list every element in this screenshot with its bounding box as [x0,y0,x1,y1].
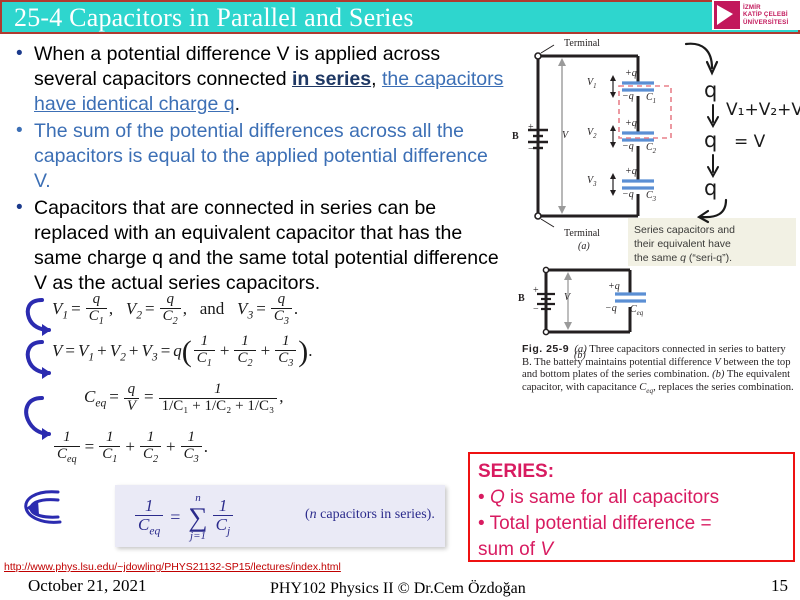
eq2-v2: V [110,341,120,360]
cap3-plus-charge: +q [625,166,637,177]
equation-reciprocal-sum: 1Ceq=1C1+1C2+1C3. [52,437,208,456]
eq4-frac-1: 1C1 [99,430,120,465]
callout-series-same-q: Series capacitors and their equivalent h… [628,218,796,266]
handwritten-arrow-top [684,40,724,80]
eq4-frac-ceq: 1Ceq [54,430,80,465]
ceq-name: Ceq [630,304,643,317]
bullet-1-emphasis: in series [292,68,371,90]
sigma-lower-limit: j=1 [188,531,207,542]
sum-one-right: 1 [213,497,234,515]
ceq-c-sub: eq [637,310,643,317]
callout-line3-post: (“seri-q”). [686,252,732,264]
bullet-list: When a potential difference V is applied… [8,42,508,298]
eq4-ceq: C [57,446,67,462]
bullet-item-1: When a potential difference V is applied… [8,42,508,117]
eq2-period: . [308,341,312,360]
eq3-frac-main: 11/C₁ + 1/C₂ + 1/C₃ [159,382,278,415]
handwritten-arrow-2 [704,154,722,178]
eq2-den-3: C3 [275,350,296,370]
equation-ceq: Ceq=qV=11/C₁ + 1/C₂ + 1/C₃, [84,387,283,406]
summation-formula: 1 Ceq = n ∑ j=1 1 Cj [133,493,235,542]
eq2-num-1: 1 [194,334,215,350]
eq1-equals-3: = [253,299,269,318]
eq3-denom: 1/C₁ + 1/C₂ + 1/C₃ [159,398,278,415]
eq3-ceq-sub: eq [95,396,106,409]
eq1-comma-2: , [183,299,187,318]
eq2-c2-sub: 2 [248,358,253,369]
callout-line-1: Series capacitors and [634,223,790,237]
cap1-c: C [646,92,653,103]
eq2-v3-sub: 3 [152,350,158,363]
eq4-den-2: C2 [140,446,161,466]
eq3-ceq: C [84,387,95,406]
eq2-paren-close: ) [298,335,308,368]
cap3-voltage-label: V3 [587,175,597,188]
footer-course-info: PHY102 Physics II © Dr.Cem Özdoğan [270,580,526,598]
page-title: 25-4 Capacitors in Parallel and Series [14,3,414,33]
handwritten-q-2: q [704,128,717,152]
eq4-plus-2: + [163,437,179,456]
battery-label-a: B [512,131,519,142]
caption-a-marker: (a) [574,344,586,355]
cap1-v-sub: 1 [593,83,596,90]
eq4-den-0: Ceq [54,446,80,466]
eq4-c1: C [102,446,112,462]
sum-ceq: C [138,515,149,534]
eq1-c3: C [274,308,284,324]
eq2-c1: C [197,350,207,366]
blue-arrow-2 [22,338,56,384]
source-url-link[interactable]: http://www.phys.lsu.edu/~jdowling/PHYS21… [4,561,341,573]
logo-mark-icon [714,1,740,29]
caption-text-4: , replaces the series combination. [653,382,794,393]
eq2-c1-sub: 1 [207,358,212,369]
eq4-num-0: 1 [54,430,80,446]
terminal-top-label: Terminal [564,38,600,49]
ceq-minus-charge: −q [605,303,617,314]
eq2-equals-2: = [158,341,174,360]
cap3-minus-charge: −q [622,189,634,200]
bullet-2-text: The sum of the potential differences acr… [34,120,488,192]
eq2-num-3: 1 [275,334,296,350]
blue-arrow-1 [22,296,56,340]
equation-row-1: V1=qC1, V2=qC2, and V3=qC3. [52,292,452,327]
equation-v1-v2-v3: V1=qC1, V2=qC2, and V3=qC3. [52,299,298,318]
logo-text: İZMİR KATİP ÇELEBİ ÜNİVERSİTESİ [740,4,788,26]
ceq-plus-charge: +q [608,281,620,292]
handwritten-arrow-1 [704,104,722,128]
sum-cj: C [216,515,227,534]
handwritten-sum-line-2: = V [734,132,765,152]
cap2-c: C [646,142,653,153]
eq2-v3: V [142,341,152,360]
eq1-v2: V [126,299,136,318]
battery-minus-b: − [533,304,539,315]
terminal-bottom-label: Terminal [564,228,600,239]
university-logo: İZMİR KATİP ÇELEBİ ÜNİVERSİTESİ [712,0,800,30]
eq3-equals-2: = [141,387,157,406]
ceq-c: C [630,304,637,315]
cap3-name: C3 [646,190,656,203]
cap1-c-sub: 1 [653,98,656,105]
series-item-2: • Total potential difference = [478,511,785,537]
eq1-period: . [294,299,298,318]
bullet-1-part-3: , [371,68,382,90]
sum-frac-ceq: 1 Ceq [135,497,163,537]
caption-ceq: Ceq [639,382,653,393]
summation-formula-box: 1 Ceq = n ∑ j=1 1 Cj (n capacitors in se… [115,485,445,547]
cap2-voltage-label: V2 [587,127,597,140]
summation-note: (n capacitors in series). [305,507,435,523]
eq4-plus-1: + [122,437,138,456]
sum-den-ceq: Ceq [135,515,163,538]
eq1-frac-1: qC1 [86,292,107,327]
series-item-2-text: sum of [478,539,540,560]
eq1-c3-sub: 3 [284,316,289,327]
eq4-den-3: C3 [181,446,202,466]
eq2-c3: C [278,350,288,366]
eq1-den-2: C2 [160,308,181,328]
eq1-v3: V [237,299,247,318]
eq2-den-1: C1 [194,350,215,370]
eq1-c1-sub: 1 [99,316,104,327]
eq4-c1-sub: 1 [112,454,117,465]
eq1-equals-1: = [68,299,84,318]
handwritten-sum-line-1: V₁+V₂+V₃ [726,100,800,120]
series-item-2-v: V [540,539,553,560]
panel-a-label: (a) [578,241,590,252]
eq4-den-1: C1 [99,446,120,466]
equation-v-sum: V=V1+V2+V3=q(1C1+1C2+1C3). [52,341,313,360]
cap2-plus-charge: +q [625,118,637,129]
series-item-1-bullet: • [478,487,490,508]
sum-equals: = [165,507,185,528]
cap1-voltage-label: V1 [587,77,597,90]
eq1-num-1: q [86,292,107,308]
eq2-den-2: C2 [234,350,255,370]
eq3-equals-1: = [106,387,122,406]
eq4-frac-3: 1C3 [181,430,202,465]
eq4-c2-sub: 2 [153,454,158,465]
callout-line3-pre: the same [634,252,680,264]
eq1-comma-1: , [109,299,113,318]
eq4-c3: C [184,446,194,462]
eq1-den-3: C3 [271,308,292,328]
eq2-v: V [52,341,62,360]
sum-frac-cj: 1 Cj [213,497,234,537]
eq1-frac-3: qC3 [271,292,292,327]
series-summary-box: SERIES: • Q is same for all capacitors •… [468,452,795,562]
bullet-3-text: Capacitors that are connected in series … [34,197,499,294]
sum-den-cj: Cj [213,515,234,538]
series-item-1: • Q is same for all capacitors [478,485,785,511]
eq2-plus-3: + [217,341,233,360]
series-heading: SERIES: [478,459,785,485]
eq1-den-1: C1 [86,308,107,328]
eq2-frac-2: 1C2 [234,334,255,369]
voltage-label-b: V [564,292,570,303]
cap1-minus-charge: −q [622,91,634,102]
battery-minus-a: − [528,144,534,155]
battery-label-b: B [518,293,525,304]
cap3-c-sub: 3 [653,196,656,203]
series-item-2-line2: sum of V [478,537,785,563]
eq2-equals-1: = [62,341,78,360]
equation-row-3: Ceq=qV=11/C₁ + 1/C₂ + 1/C₃, [84,382,452,415]
footer-date: October 21, 2021 [28,576,147,596]
blue-arrow-4-large [18,484,66,532]
eq1-num-3: q [271,292,292,308]
voltage-label-a: V [562,130,568,141]
eq2-v1: V [78,341,88,360]
eq1-v1: V [52,299,62,318]
eq4-num-1: 1 [99,430,120,446]
eq2-num-2: 1 [234,334,255,350]
cap2-name: C2 [646,142,656,155]
series-item-1-q: Q [490,487,505,508]
eq4-num-3: 1 [181,430,202,446]
eq2-q: q [173,341,182,360]
logo-line-2: KATİP ÇELEBİ [743,11,788,18]
cap1-name: C1 [646,92,656,105]
equation-row-2: V=V1+V2+V3=q(1C1+1C2+1C3). [52,334,452,369]
footer-page-number: 15 [771,576,788,596]
eq1-equals-2: = [142,299,158,318]
sum-note-n: n [310,507,317,522]
series-item-1-text: is same for all capacitors [505,487,719,508]
cap1-plus-charge: +q [625,68,637,79]
callout-line-2: their equivalent have [634,237,790,251]
equation-row-4: 1Ceq=1C1+1C2+1C3. [52,430,452,465]
sum-note-rest: capacitors in series). [317,507,435,522]
eq1-frac-2: qC2 [160,292,181,327]
cap2-c-sub: 2 [653,148,656,155]
eq4-c3-sub: 3 [194,454,199,465]
logo-line-3: ÜNİVERSİTESİ [743,19,788,26]
bullet-1-part-5: . [235,93,240,115]
slide-root: 25-4 Capacitors in Parallel and Series İ… [0,0,800,600]
eq2-paren-open: ( [182,335,192,368]
eq4-frac-2: 1C2 [140,430,161,465]
eq2-plus-1: + [94,341,110,360]
cap2-minus-charge: −q [622,141,634,152]
eq2-c2: C [237,350,247,366]
battery-plus-a: + [528,122,534,133]
eq2-frac-3: 1C3 [275,334,296,369]
handwritten-q-1: q [704,78,717,102]
handwritten-arrow-bottom [694,198,730,224]
equation-block: V1=qC1, V2=qC2, and V3=qC3. V=V1+V2+V3=q… [52,292,452,473]
eq4-ceq-sub: eq [67,454,77,465]
eq4-period: . [204,437,208,456]
eq2-plus-4: + [258,341,274,360]
logo-line-1: İZMİR [743,4,788,11]
eq3-num: 1 [159,382,278,398]
eq4-equals: = [82,437,98,456]
eq1-num-2: q [160,292,181,308]
callout-line-3: the same q (“seri-q”). [634,251,790,265]
sum-one-left: 1 [135,497,163,515]
eq2-plus-2: + [126,341,142,360]
eq4-num-2: 1 [140,430,161,446]
eq2-c3-sub: 3 [288,358,293,369]
bullet-item-3: Capacitors that are connected in series … [8,196,508,296]
eq3-v: V [124,398,139,415]
handwritten-q-3: q [704,176,717,200]
eq1-c2-sub: 2 [173,316,178,327]
eq1-c1: C [89,308,99,324]
sum-cj-sub: j [227,525,230,538]
sigma-symbol: ∑ [188,504,207,531]
eq3-comma: , [279,387,283,406]
eq3-frac-qv: qV [124,382,139,415]
blue-arrow-3 [20,394,56,446]
battery-plus-b: + [533,285,539,296]
eq4-c2: C [143,446,153,462]
cap3-c: C [646,190,653,201]
caption-fig-number: Fig. 25-9 [522,343,569,355]
cap2-v-sub: 2 [593,133,596,140]
figure-caption: Fig. 25-9 (a) Three capacitors connected… [522,343,794,397]
sigma-group: n ∑ j=1 [188,493,207,542]
sum-ceq-sub: eq [149,525,160,538]
bullet-item-2: The sum of the potential differences acr… [8,119,508,194]
caption-b-marker: (b) [712,369,724,380]
slide-title-bar: 25-4 Capacitors in Parallel and Series [0,0,800,34]
eq2-frac-1: 1C1 [194,334,215,369]
cap3-v-sub: 3 [593,181,596,188]
eq3-q: q [124,382,139,398]
eq1-and: and [200,299,225,318]
eq1-c2: C [163,308,173,324]
